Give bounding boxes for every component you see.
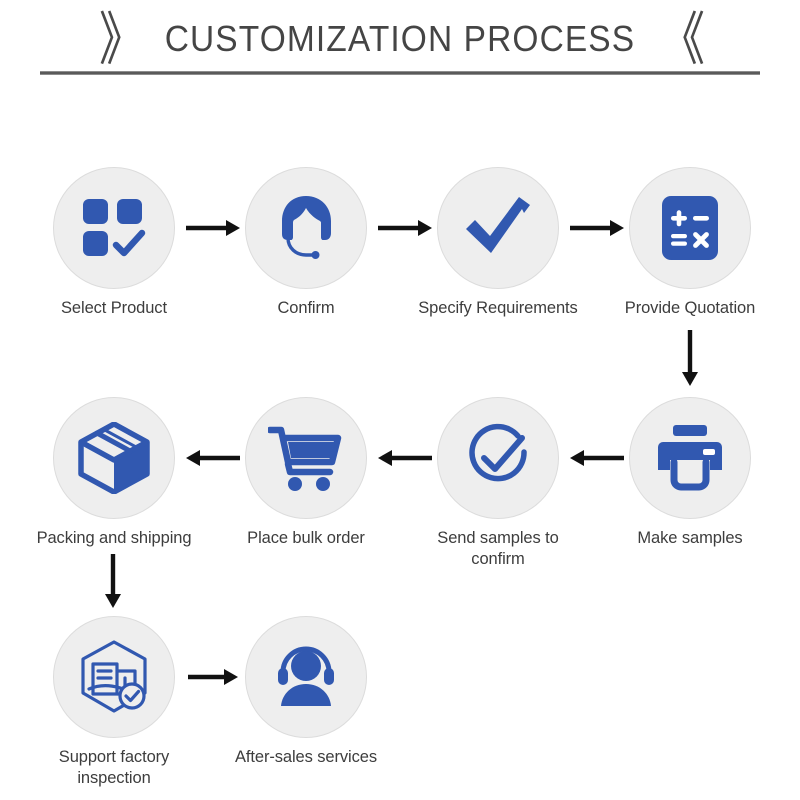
- circle-check-icon: [462, 422, 534, 494]
- double-chevron-right-icon: 》: [99, 10, 141, 68]
- step-provide-quotation[interactable]: Provide Quotation: [606, 167, 774, 319]
- step-icon-circle: [629, 397, 751, 519]
- shopping-cart-icon: [268, 424, 344, 492]
- connector-arrow-left: [570, 449, 624, 467]
- step-label: Make samples: [606, 528, 774, 549]
- step-icon-circle: [629, 167, 751, 289]
- headset-agent-icon: [270, 192, 342, 264]
- step-icon-circle: [245, 167, 367, 289]
- step-support-factory-inspection[interactable]: Support factory inspection: [30, 616, 198, 789]
- step-label: Provide Quotation: [606, 298, 774, 319]
- factory-shield-check-icon: [77, 640, 151, 714]
- step-make-samples[interactable]: Make samples: [606, 397, 774, 549]
- step-label: Specify Requirements: [414, 298, 582, 319]
- step-icon-circle: [437, 397, 559, 519]
- grid-check-icon: [81, 197, 147, 259]
- step-icon-circle: [53, 397, 175, 519]
- step-icon-circle: [437, 167, 559, 289]
- connector-arrow-down: [681, 330, 699, 386]
- connector-arrow-right: [188, 668, 238, 686]
- connector-arrow-down: [104, 554, 122, 608]
- double-chevron-left-icon: 《: [659, 10, 701, 68]
- step-icon-circle: [53, 616, 175, 738]
- checkmark-icon: [462, 195, 534, 261]
- step-icon-circle: [245, 616, 367, 738]
- step-select-product[interactable]: Select Product: [30, 167, 198, 319]
- step-icon-circle: [245, 397, 367, 519]
- calculator-icon: [660, 194, 720, 262]
- printer-icon: [653, 424, 727, 492]
- connector-arrow-left: [186, 449, 240, 467]
- step-label: Select Product: [30, 298, 198, 319]
- step-send-samples-to-confirm[interactable]: Send samples to confirm: [414, 397, 582, 570]
- step-packing-and-shipping[interactable]: Packing and shipping: [30, 397, 198, 549]
- step-label: Packing and shipping: [30, 528, 198, 549]
- step-label: Send samples to confirm: [414, 528, 582, 570]
- step-label: Place bulk order: [222, 528, 390, 549]
- step-icon-circle: [53, 167, 175, 289]
- step-confirm[interactable]: Confirm: [222, 167, 390, 319]
- title-row: 》 CUSTOMIZATION PROCESS 《: [0, 10, 800, 68]
- title-divider: [40, 71, 760, 75]
- package-box-icon: [77, 422, 151, 494]
- step-label: Confirm: [222, 298, 390, 319]
- connector-arrow-right: [186, 219, 240, 237]
- step-label: After-sales services: [222, 747, 390, 768]
- step-place-bulk-order[interactable]: Place bulk order: [222, 397, 390, 549]
- step-specify-requirements[interactable]: Specify Requirements: [414, 167, 582, 319]
- page-title: CUSTOMIZATION PROCESS: [165, 18, 636, 60]
- step-after-sales-services[interactable]: After-sales services: [222, 616, 390, 768]
- connector-arrow-left: [378, 449, 432, 467]
- connector-arrow-right: [378, 219, 432, 237]
- page-header: 》 CUSTOMIZATION PROCESS 《: [0, 0, 800, 95]
- connector-arrow-right: [570, 219, 624, 237]
- headset-person-icon: [270, 644, 342, 710]
- step-label: Support factory inspection: [30, 747, 198, 789]
